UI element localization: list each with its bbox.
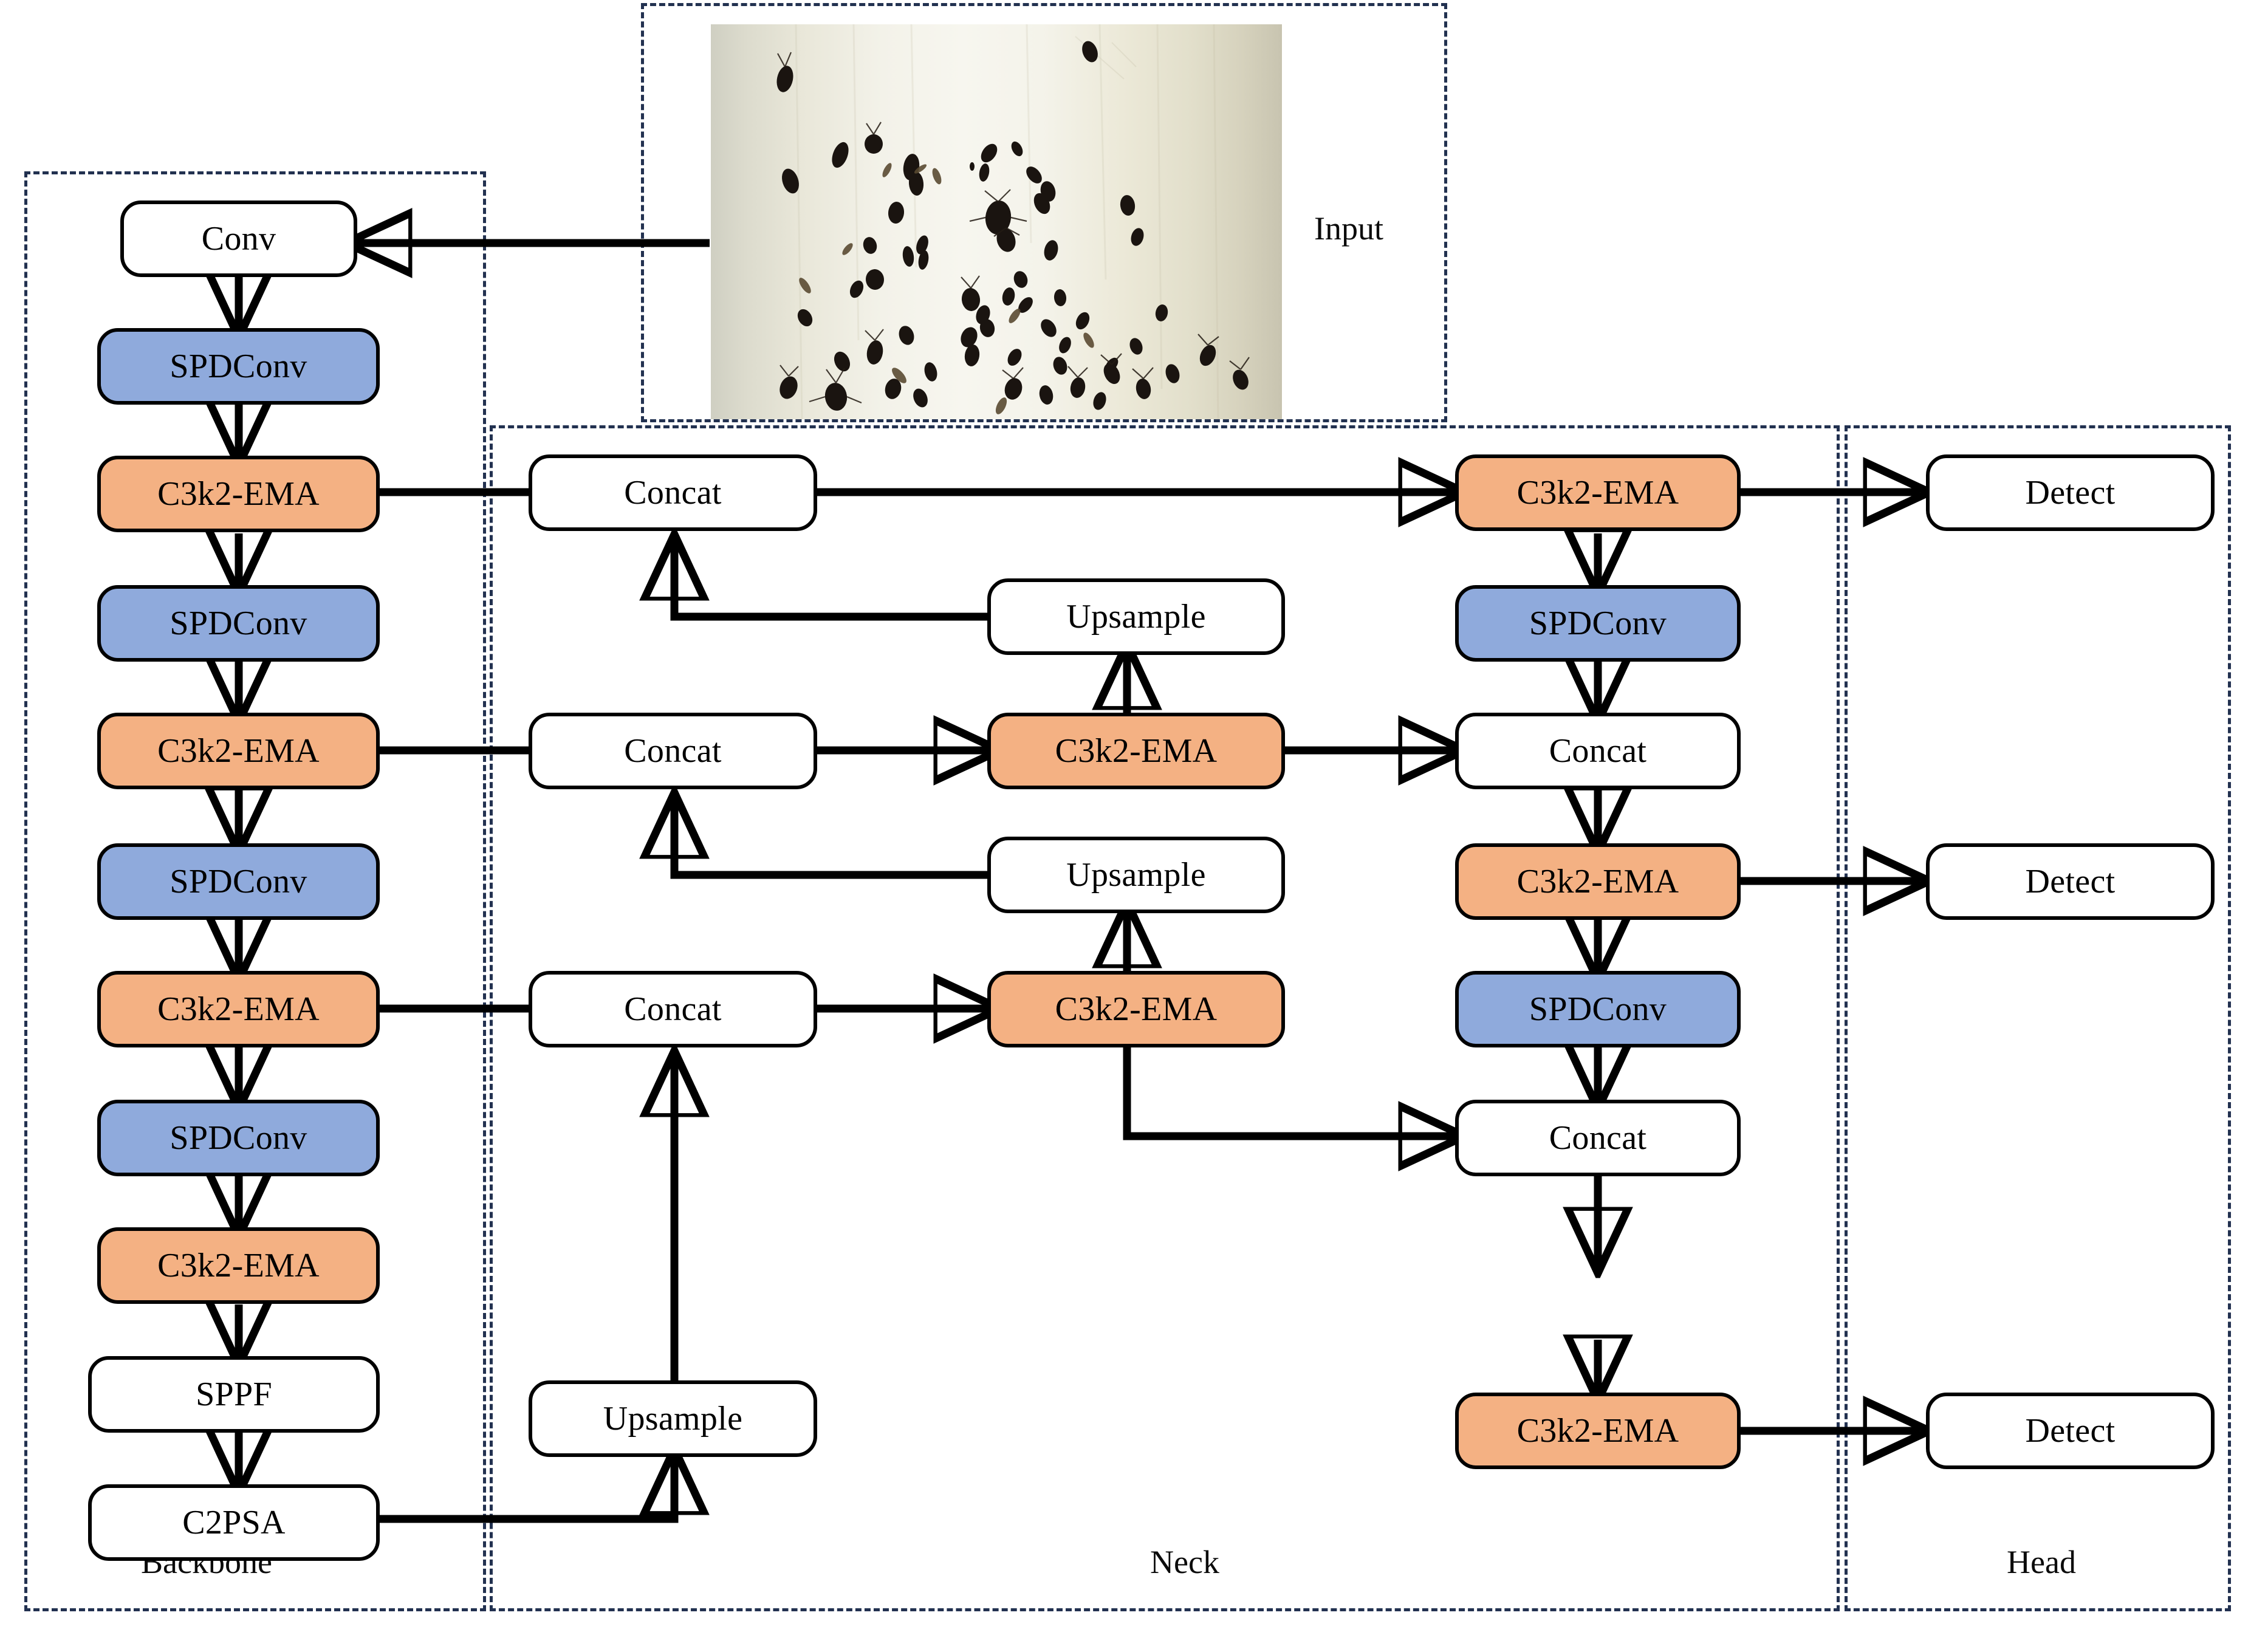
node-concat-top[interactable]: Concat	[529, 454, 817, 531]
node-c3k2ema-p3[interactable]: C3k2-EMA	[1455, 454, 1741, 531]
node-c3k2ema-p5[interactable]: C3k2-EMA	[1455, 1393, 1741, 1469]
node-c3k2ema-n2[interactable]: C3k2-EMA	[987, 971, 1285, 1047]
node-detect-2[interactable]: Detect	[1926, 843, 2215, 920]
node-detect-3[interactable]: Detect	[1926, 1393, 2215, 1469]
node-upsample-top[interactable]: Upsample	[987, 578, 1285, 655]
node-concat-low[interactable]: Concat	[529, 971, 817, 1047]
node-c3k2ema-b3[interactable]: C3k2-EMA	[97, 971, 380, 1047]
node-c3k2ema-n1[interactable]: C3k2-EMA	[987, 713, 1285, 789]
node-sppf[interactable]: SPPF	[88, 1356, 380, 1433]
node-c3k2ema-b1[interactable]: C3k2-EMA	[97, 456, 380, 532]
node-detect-1[interactable]: Detect	[1926, 454, 2215, 531]
node-c3k2ema-b4[interactable]: C3k2-EMA	[97, 1227, 380, 1304]
node-concat-b[interactable]: Concat	[1455, 1100, 1741, 1176]
node-concat-mid[interactable]: Concat	[529, 713, 817, 789]
input-image	[711, 24, 1282, 419]
node-c3k2ema-b2[interactable]: C3k2-EMA	[97, 713, 380, 789]
node-spdconv-n1[interactable]: SPDConv	[1455, 585, 1741, 662]
node-upsample-bottom[interactable]: Upsample	[529, 1380, 817, 1457]
node-c3k2ema-p4[interactable]: C3k2-EMA	[1455, 843, 1741, 920]
node-spdconv-3[interactable]: SPDConv	[97, 843, 380, 920]
node-spdconv-1[interactable]: SPDConv	[97, 328, 380, 405]
node-spdconv-n2[interactable]: SPDConv	[1455, 971, 1741, 1047]
node-spdconv-4[interactable]: SPDConv	[97, 1100, 380, 1176]
node-spdconv-2[interactable]: SPDConv	[97, 585, 380, 662]
node-c2psa[interactable]: C2PSA	[88, 1484, 380, 1561]
node-conv[interactable]: Conv	[120, 201, 357, 277]
insects-layer	[711, 24, 1282, 419]
node-concat-a[interactable]: Concat	[1455, 713, 1741, 789]
node-upsample-mid[interactable]: Upsample	[987, 837, 1285, 913]
